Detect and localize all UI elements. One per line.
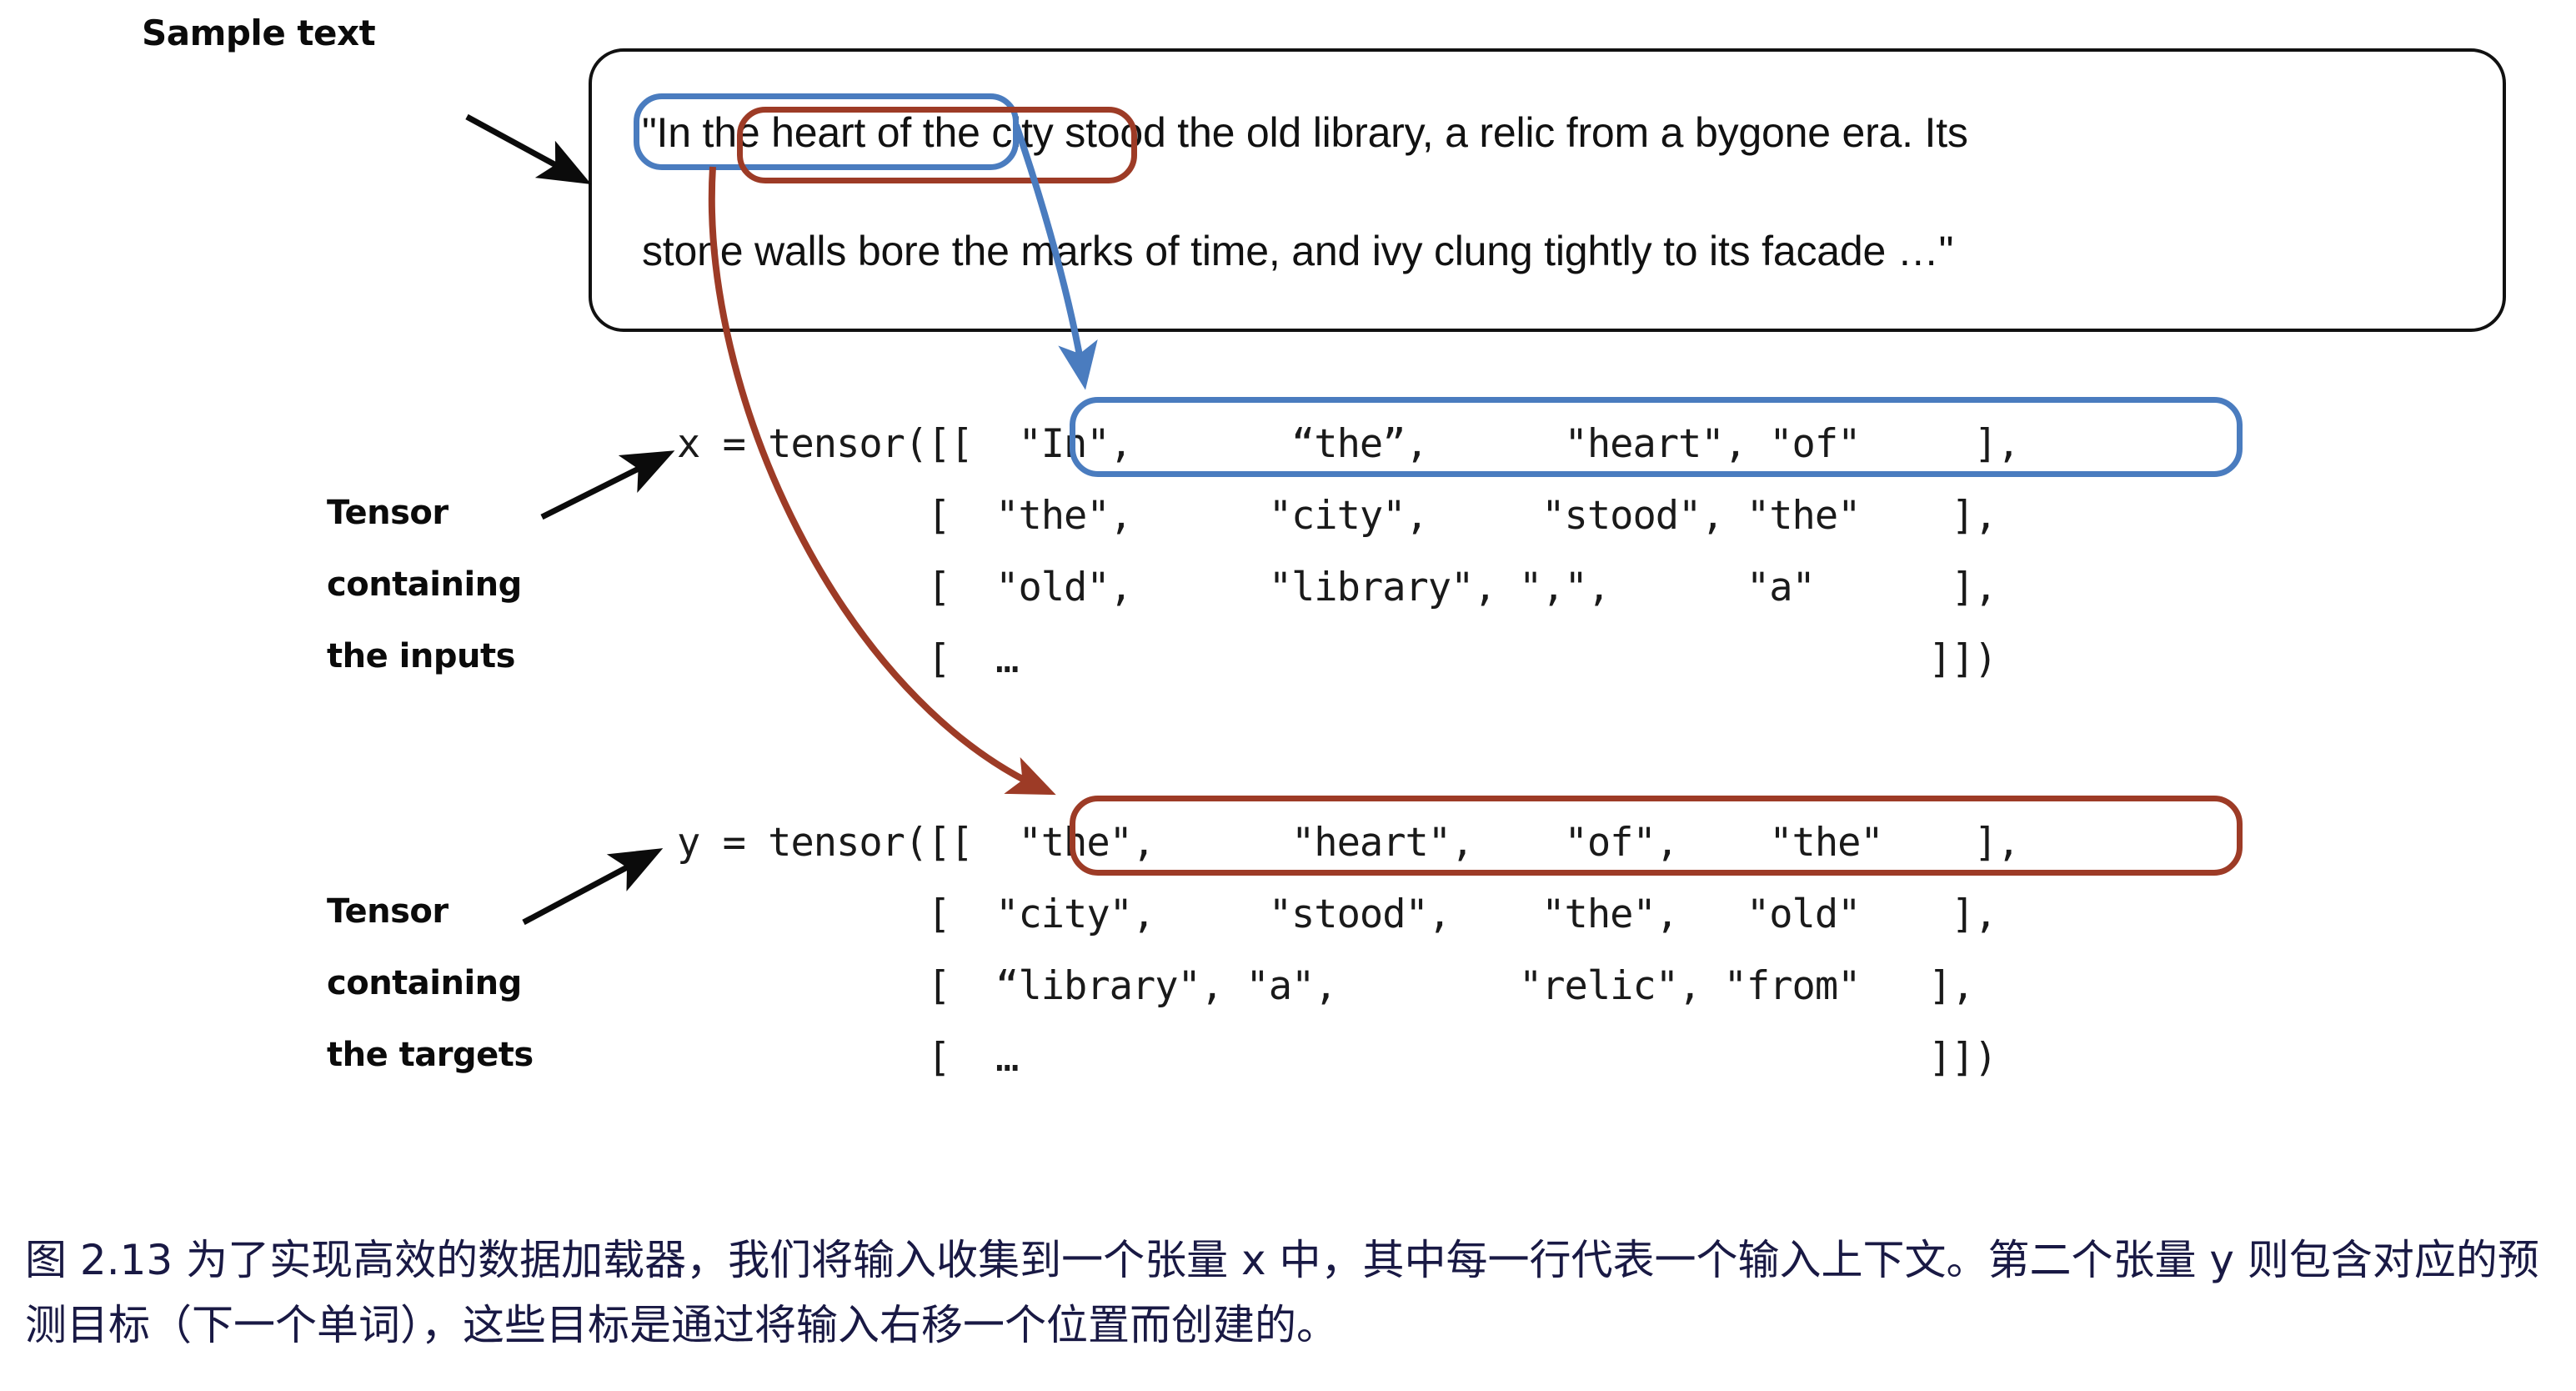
arrow-sample-text-pointer: [467, 117, 584, 180]
highlight-tensor-y-first-row: [1070, 796, 2243, 876]
arrow-tensor-targets-pointer: [524, 852, 655, 922]
sample-text-box: [589, 48, 2506, 332]
annotation-sample-text: Sample text: [142, 10, 375, 57]
arrow-tensor-inputs-pointer: [542, 454, 667, 517]
annotation-tensor-inputs: Tensor containing the inputs: [327, 477, 522, 692]
figure-caption: 图 2.13 为了实现高效的数据加载器，我们将输入收集到一个张量 x 中，其中每…: [25, 1228, 2551, 1358]
sample-text-line-2: stone walls bore the marks of time, and …: [642, 227, 1953, 275]
annotation-tensor-targets: Tensor containing the targets: [327, 876, 534, 1091]
highlight-tensor-x-first-row: [1070, 397, 2243, 477]
highlight-target-span-in-sample-text: [737, 107, 1137, 183]
